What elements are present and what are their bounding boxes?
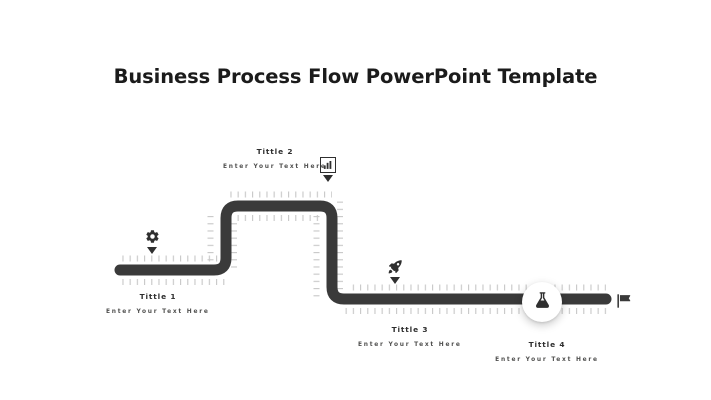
step-1-label: Tittle 1 Enter Your Text Here [106,293,216,318]
tick-band [118,279,230,285]
tick-band [348,285,606,291]
step-1-marker[interactable] [137,229,167,254]
tick-band [236,215,324,221]
flag-icon [615,297,633,314]
step-2-label: Tittle 2 Enter Your Text Here [223,148,335,173]
step-4-description: Enter Your Text Here [495,355,599,366]
tick-band [122,256,230,262]
step-4-label: Tittle 4 Enter Your Text Here [495,341,605,366]
caret-down-icon [323,175,333,182]
step-4-badge[interactable] [522,282,562,322]
step-3-label: Tittle 3 Enter Your Text Here [358,326,470,351]
slide-canvas: Business Process Flow PowerPoint Templat… [0,0,711,400]
step-2-description: Enter Your Text Here [223,162,327,173]
step-1-description: Enter Your Text Here [106,307,210,318]
process-flow-path [0,0,711,400]
step-4-title: Tittle 4 [495,341,599,350]
tick-band [337,200,343,298]
tick-band [314,214,320,298]
rocket-icon [380,259,410,276]
flask-icon [533,290,552,314]
tick-band [228,192,332,198]
end-flag-marker [615,292,635,312]
step-3-marker[interactable] [380,259,410,284]
caret-down-icon [147,247,157,254]
step-3-title: Tittle 3 [358,326,462,335]
page-title: Business Process Flow PowerPoint Templat… [0,66,711,87]
tick-band [231,222,237,270]
step-1-title: Tittle 1 [106,293,210,302]
gear-icon [137,229,167,246]
caret-down-icon [390,277,400,284]
tick-band [208,212,214,268]
tick-band [340,308,608,314]
step-2-title: Tittle 2 [223,148,327,157]
step-3-description: Enter Your Text Here [358,340,462,351]
